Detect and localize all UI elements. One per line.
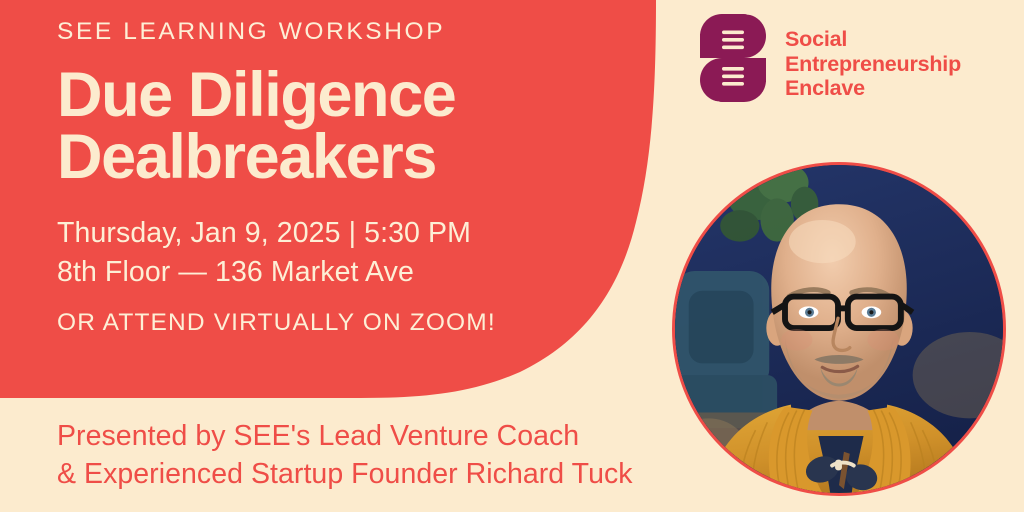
poster-text-column: SEE LEARNING WORKSHOP Due Diligence Deal… xyxy=(57,0,617,337)
brand-wordmark: Social Entrepreneurship Enclave xyxy=(785,14,961,101)
presenter-line-2: & Experienced Startup Founder Richard Tu… xyxy=(57,456,633,494)
brand-logo-lockup: Social Entrepreneurship Enclave xyxy=(700,14,961,102)
headline-line-1: Due Diligence xyxy=(57,65,617,127)
virtual-attendance-note: OR ATTEND VIRTUALLY ON ZOOM! xyxy=(57,292,617,337)
presenter-credit: Presented by SEE's Lead Venture Coach & … xyxy=(57,418,633,494)
wordmark-line-3: Enclave xyxy=(785,76,961,101)
wordmark-line-1: Social xyxy=(785,27,961,52)
event-date-time: Thursday, Jan 9, 2025 | 5:30 PM xyxy=(57,214,617,253)
eyebrow-label: SEE LEARNING WORKSHOP xyxy=(57,0,617,46)
presenter-line-1: Presented by SEE's Lead Venture Coach xyxy=(57,418,633,456)
see-s-monogram-icon xyxy=(700,14,766,102)
event-location: 8th Floor — 136 Market Ave xyxy=(57,253,617,292)
presenter-portrait xyxy=(672,162,1006,496)
headline-line-2: Dealbreakers xyxy=(57,127,617,189)
page-title: Due Diligence Dealbreakers xyxy=(57,46,617,188)
event-details: Thursday, Jan 9, 2025 | 5:30 PM 8th Floo… xyxy=(57,188,617,292)
wordmark-line-2: Entrepreneurship xyxy=(785,52,961,77)
event-poster: SEE LEARNING WORKSHOP Due Diligence Deal… xyxy=(0,0,1024,512)
